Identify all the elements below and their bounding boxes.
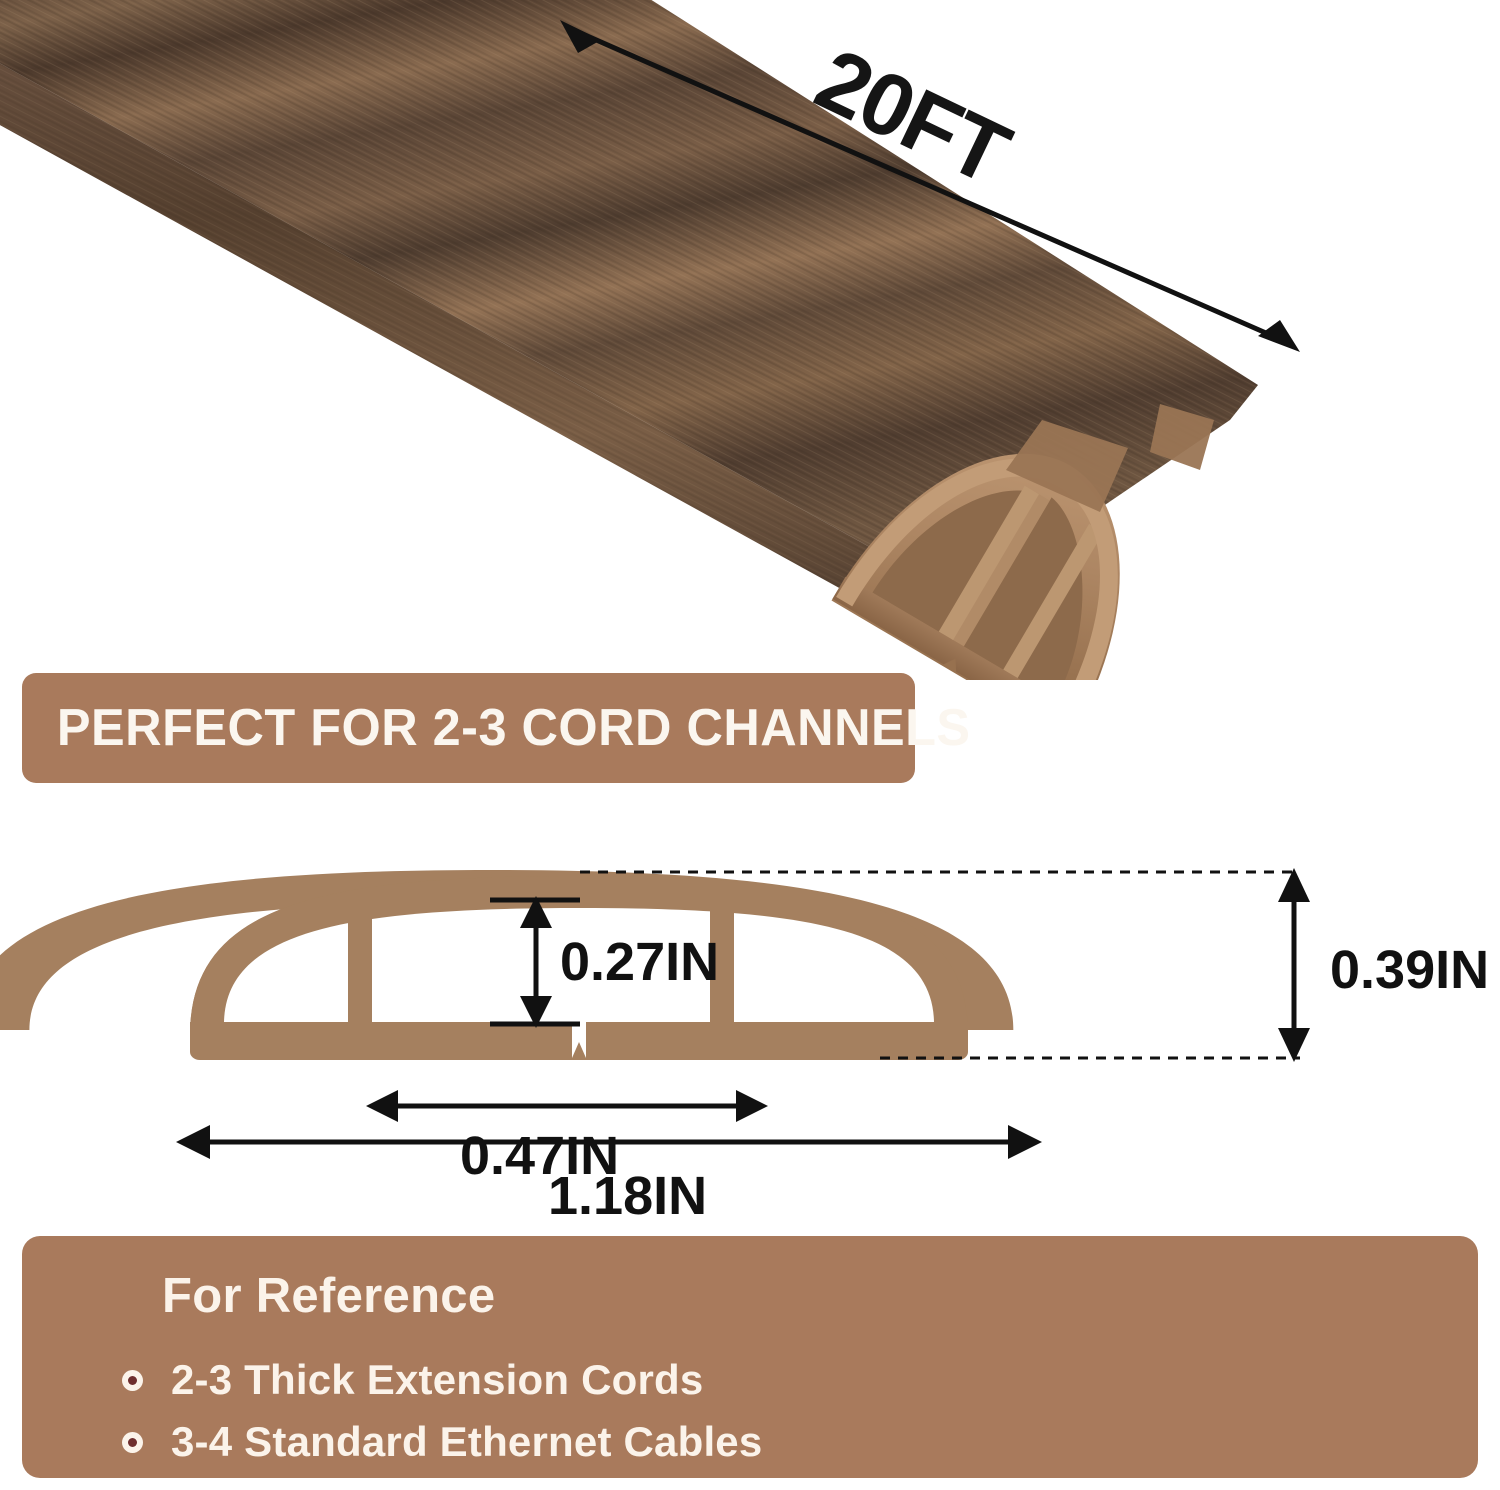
product-infographic: 20FT PERFECT FOR 2-3 CORD CHANNELS bbox=[0, 0, 1500, 1490]
reference-list: 2-3 Thick Extension Cords 3-4 Standard E… bbox=[122, 1352, 762, 1476]
cross-section-diagram: 0.27IN 0.39IN 0.47IN bbox=[0, 790, 1500, 1220]
headline-text: PERFECT FOR 2-3 CORD CHANNELS bbox=[22, 698, 971, 758]
reference-title: For Reference bbox=[162, 1268, 495, 1324]
bullet-icon bbox=[122, 1370, 143, 1391]
total-width-label: 1.18IN bbox=[548, 1166, 707, 1226]
list-item-label: 2-3 Thick Extension Cords bbox=[171, 1356, 703, 1404]
inner-height-label: 0.27IN bbox=[560, 932, 719, 992]
list-item-label: 3-4 Standard Ethernet Cables bbox=[171, 1418, 762, 1466]
hero-product-image: 20FT bbox=[0, 0, 1500, 680]
bullet-icon bbox=[122, 1432, 143, 1453]
product-render-svg bbox=[0, 0, 1500, 680]
list-item: 2-3 Thick Extension Cords bbox=[122, 1352, 762, 1408]
total-width-dimension: 1.18IN bbox=[0, 1116, 1500, 1226]
total-height-label: 0.39IN bbox=[1330, 940, 1489, 1000]
reference-panel: For Reference 2-3 Thick Extension Cords … bbox=[22, 1236, 1478, 1478]
list-item: 3-4 Standard Ethernet Cables bbox=[122, 1414, 762, 1470]
headline-banner: PERFECT FOR 2-3 CORD CHANNELS bbox=[22, 673, 915, 783]
